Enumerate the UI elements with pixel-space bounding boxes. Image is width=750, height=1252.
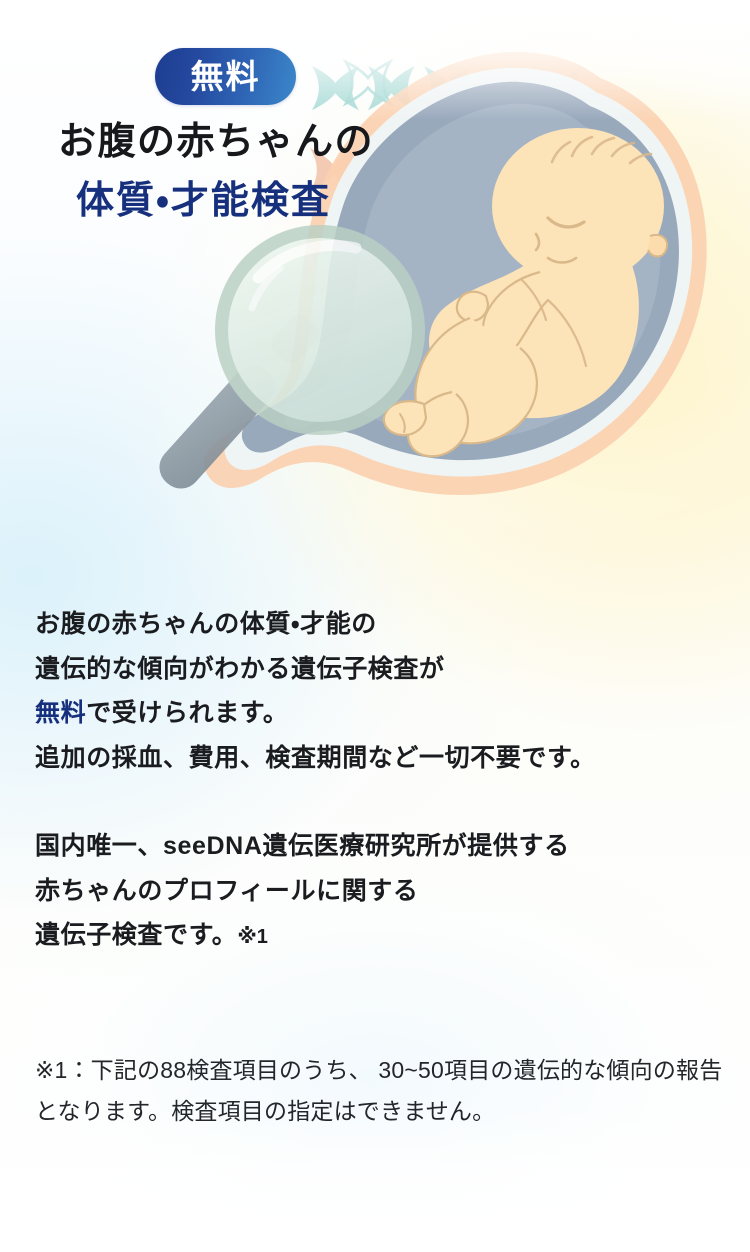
paragraph-2-line-2: 赤ちゃんのプロフィールに関する	[35, 869, 725, 914]
landing-page-root: 無料 お腹の赤ちゃんの 体質・才能検査 お腹の赤ちゃんの体質・才能の 遺伝的な傾…	[0, 0, 750, 1252]
paragraph-2-line-3: 遺伝子検査です。※1	[35, 913, 725, 958]
free-highlight: 無料	[35, 699, 86, 727]
body-copy: お腹の赤ちゃんの体質・才能の 遺伝的な傾向がわかる遺伝子検査が 無料で受けられま…	[35, 602, 725, 958]
top-fade-overlay	[0, 0, 750, 120]
paragraph-1-line-2: 遺伝的な傾向がわかる遺伝子検査が	[35, 647, 725, 692]
paragraph-1-line-1: お腹の赤ちゃんの体質・才能の	[35, 602, 725, 647]
headline-line-1: お腹の赤ちゃんの	[58, 118, 558, 167]
footnote-reference-marker: ※1	[237, 926, 268, 948]
paragraph-2-line-3-text: 遺伝子検査です。	[35, 921, 237, 949]
free-badge-label: 無料	[191, 60, 261, 93]
paragraph-spacer	[35, 780, 725, 824]
paragraph-1-line-3-rest: で受けられます。	[86, 699, 288, 727]
headline-line-2: 体質・才能検査	[76, 177, 558, 226]
page-title: お腹の赤ちゃんの 体質・才能検査	[58, 118, 558, 225]
paragraph-1-line-4: 追加の採血、費用、検査期間など一切不要です。	[35, 736, 725, 781]
footnote-text: ※1：下記の88検査項目のうち、 30~50項目の遺伝的な傾向の報告となります。…	[35, 1050, 735, 1132]
paragraph-2-line-1: 国内唯一、seeDNA遺伝医療研究所が提供する	[35, 824, 725, 869]
paragraph-1-line-3: 無料で受けられます。	[35, 691, 725, 736]
free-badge: 無料	[155, 48, 296, 105]
